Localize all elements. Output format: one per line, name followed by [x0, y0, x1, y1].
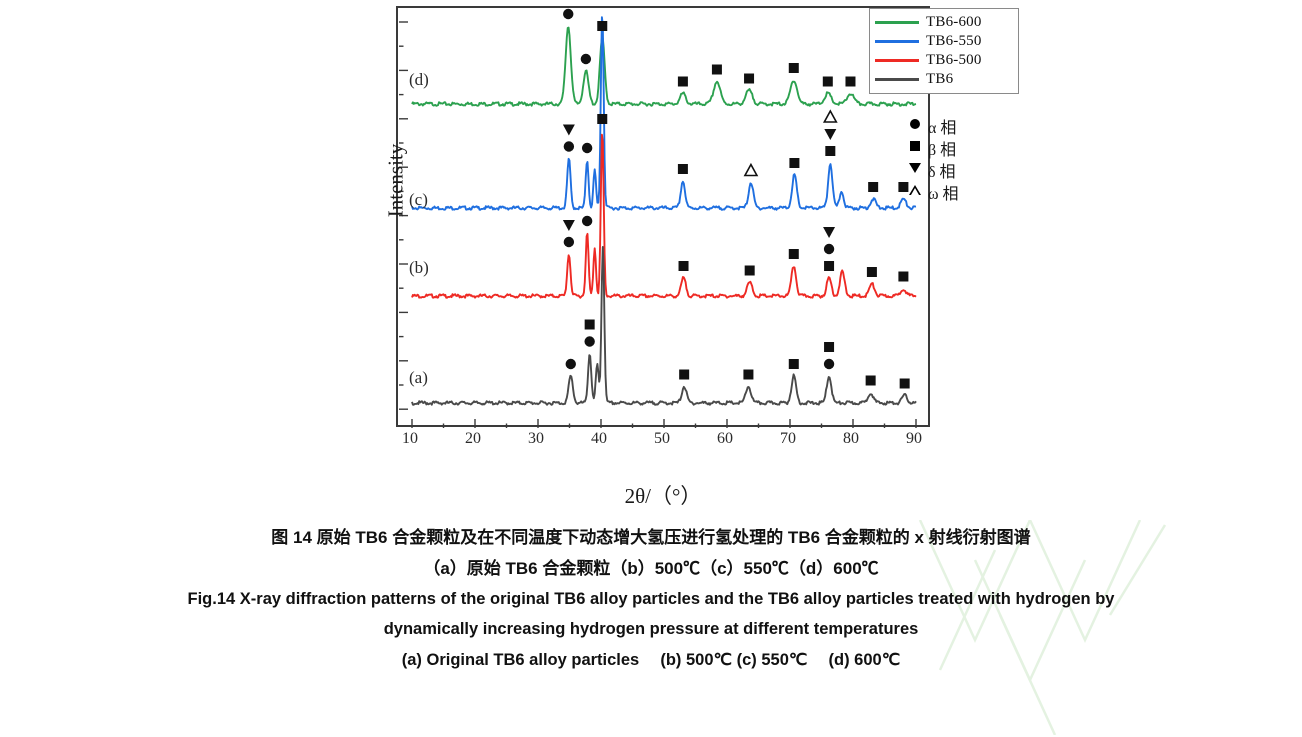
x-tick-label: 90 [906, 430, 922, 448]
phase-key-item: α 相 [906, 115, 1006, 137]
legend-color-swatch [875, 21, 919, 24]
caption-line-cn-1: 图 14 原始 TB6 合金颗粒及在不同温度下动态增大氢压进行氢处理的 TB6 … [0, 522, 1302, 553]
caption-line-cn-2: （a）原始 TB6 合金颗粒（b）500℃（c）550℃（d）600℃ [0, 553, 1302, 584]
phase-key-label: ω 相 [928, 180, 959, 204]
phase-key-item: ω 相 [906, 181, 1006, 203]
x-axis-label: 2θ/（°） [396, 480, 930, 510]
curve-tag-a: (a) [409, 368, 428, 388]
legend-item-tb6-550[interactable]: TB6-550 [875, 32, 1012, 51]
filled-square-glyph [910, 141, 920, 151]
xrd-figure: 102030405060708090 2θ/（°） Intensity (d)(… [0, 0, 1302, 520]
legend-item-tb6-500[interactable]: TB6-500 [875, 51, 1012, 70]
filled-triangle-down-icon [906, 163, 924, 177]
legend-color-swatch [875, 40, 919, 43]
phase-key-label: α 相 [928, 114, 956, 138]
filled-square-icon [906, 141, 924, 155]
x-tick-label: 60 [717, 430, 733, 448]
open-triangle-up-icon [906, 185, 924, 199]
y-axis-label: Intensity [384, 101, 409, 261]
x-tick-label: 10 [402, 430, 418, 448]
legend-color-swatch [875, 59, 919, 62]
phase-key-label: β 相 [928, 136, 956, 160]
figure-caption: 图 14 原始 TB6 合金颗粒及在不同温度下动态增大氢压进行氢处理的 TB6 … [0, 522, 1302, 676]
curve-tag-d: (d) [409, 70, 429, 90]
x-tick-label: 30 [528, 430, 544, 448]
legend-label: TB6 [926, 71, 953, 88]
caption-line-en-3: (a) Original TB6 alloy particles (b) 500… [0, 644, 1302, 676]
phase-key-item: β 相 [906, 137, 1006, 159]
x-tick-label: 50 [654, 430, 670, 448]
phase-symbol-key: α 相β 相δ 相ω 相 [906, 115, 1006, 203]
legend-label: TB6-550 [926, 33, 982, 50]
x-tick-label: 20 [465, 430, 481, 448]
x-tick-label: 70 [780, 430, 796, 448]
legend-item-tb6-600[interactable]: TB6-600 [875, 13, 1012, 32]
series-legend: TB6-600TB6-550TB6-500TB6 [869, 8, 1019, 94]
legend-color-swatch [875, 78, 919, 81]
x-tick-label: 40 [591, 430, 607, 448]
open-triangle-up-glyph [909, 185, 921, 195]
filled-circle-glyph [910, 119, 920, 129]
caption-line-en-2: dynamically increasing hydrogen pressure… [0, 614, 1302, 644]
x-tick-label: 80 [843, 430, 859, 448]
phase-key-label: δ 相 [928, 158, 956, 182]
curve-tag-b: (b) [409, 258, 429, 278]
xrd-plot-svg [398, 8, 932, 429]
phase-key-item: δ 相 [906, 159, 1006, 181]
plot-frame [396, 6, 930, 427]
legend-label: TB6-500 [926, 52, 982, 69]
legend-label: TB6-600 [926, 14, 982, 31]
caption-line-en-1: Fig.14 X-ray diffraction patterns of the… [0, 584, 1302, 614]
filled-triangle-down-glyph [909, 163, 921, 173]
filled-circle-icon [906, 119, 924, 133]
legend-item-tb6[interactable]: TB6 [875, 70, 1012, 89]
curve-tag-c: (c) [409, 190, 428, 210]
